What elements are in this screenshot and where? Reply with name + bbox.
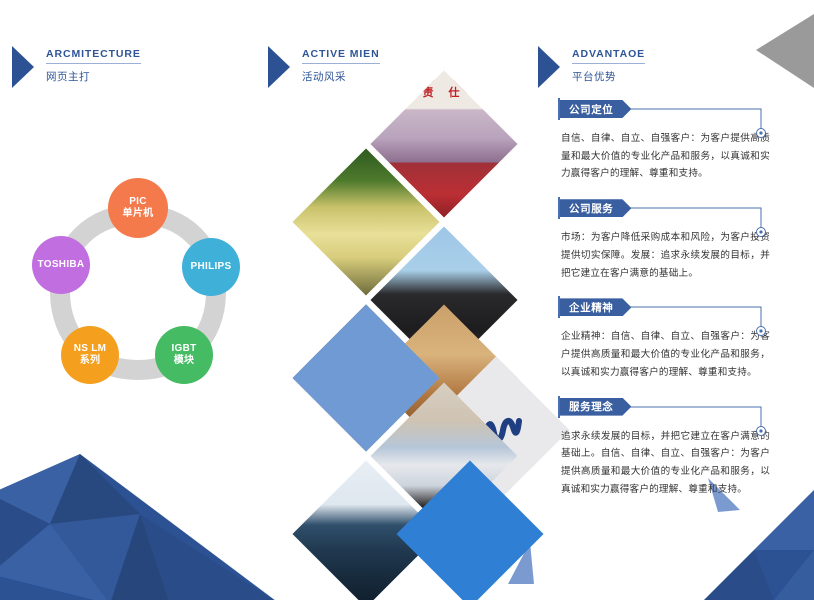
advantage-tab-label[interactable]: 企业精神 [560,298,631,316]
brand-node-label-secondary: 系列 [80,355,101,368]
section-title-cn: 网页主打 [46,69,141,84]
advantage-tab-row: 公司定位 [552,100,802,120]
deco-bottom-left-lowpoly-icon [0,454,280,600]
brand-node-nslm[interactable]: NS LM系列 [61,326,119,384]
section-title-cn: 平台优势 [572,69,645,84]
section-title-en: ADVANTAOE [572,48,645,64]
advantage-tab-accent-bar [558,396,560,418]
brand-node-label-secondary: 模块 [174,355,195,368]
advantage-block-company-service: 公司服务市场：为客户降低采购成本和风险，为客户投资提供切实保障。发展：追求永续发… [552,199,802,282]
section-header-active-mien: ACTIVE MIEN 活动风采 [268,44,380,88]
advantage-list: 公司定位自信、自律、自立、自强客户：为客户提供高质量和最大价值的专业化产品和服务… [552,100,802,515]
advantage-tab-accent-bar [558,296,560,318]
advantage-tab-row: 企业精神 [552,298,802,318]
advantage-tab-accent-bar [558,197,560,219]
advantage-tab-label[interactable]: 服务理念 [560,398,631,416]
right-arrow-marker-icon [12,46,34,88]
advantage-tab-accent-bar [558,98,560,120]
section-header-architecture: ARCMITECTURE 网页主打 [12,44,141,88]
advantage-block-company-position: 公司定位自信、自律、自立、自强客户：为客户提供高质量和最大价值的专业化产品和服务… [552,100,802,183]
brand-node-philips[interactable]: PHILIPS [182,238,240,296]
section-title-en: ACTIVE MIEN [302,48,380,64]
deco-top-right-triangle-icon [740,0,814,88]
diamond-photo-collage: 责 仕 [288,92,540,522]
advantage-block-enterprise-spirit: 企业精神企业精神：自信、自律、自立、自强客户：为客户提供高质量和最大价值的专业化… [552,298,802,381]
partner-brand-ring-diagram: PIC单片机PHILIPSIGBT模块NS LM系列TOSHIBA [24,178,252,406]
brand-node-igbt[interactable]: IGBT模块 [155,326,213,384]
advantage-tab-row: 服务理念 [552,398,802,418]
brand-node-label-secondary: 单片机 [123,208,154,221]
section-title-cn: 活动风采 [302,69,380,84]
brand-node-label-primary: TOSHIBA [38,259,85,272]
brand-node-toshiba[interactable]: TOSHIBA [32,236,90,294]
right-arrow-marker-icon [268,46,290,88]
brand-node-label-primary: PHILIPS [191,261,232,274]
section-title-en: ARCMITECTURE [46,48,141,64]
collage-photo-caption: 责 仕 [370,84,517,100]
brochure-page: ARCMITECTURE 网页主打 ACTIVE MIEN 活动风采 ADVAN… [0,0,814,600]
advantage-tab-label[interactable]: 公司定位 [560,100,631,118]
section-header-advantage: ADVANTAOE 平台优势 [538,44,645,88]
right-arrow-marker-icon [538,46,560,88]
brand-node-pic[interactable]: PIC单片机 [108,178,168,238]
advantage-tab-label[interactable]: 公司服务 [560,199,631,217]
advantage-tab-row: 公司服务 [552,199,802,219]
advantage-block-service-concept: 服务理念追求永续发展的目标，并把它建立在客户满意的基础上。自信、自律、自立、自强… [552,398,802,499]
brand-node-label-primary: PIC [129,196,147,209]
brand-node-label-primary: NS LM [74,343,107,356]
brand-node-label-primary: IGBT [171,343,196,356]
